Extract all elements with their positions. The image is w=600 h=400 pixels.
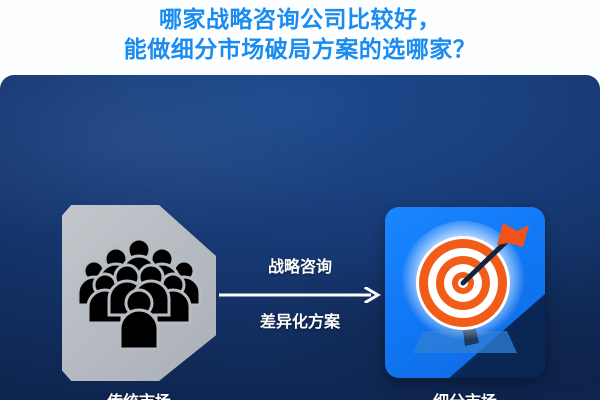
page-title-line-2: 能做细分市场破局方案的选哪家？ [0,36,600,63]
main-panel: 传统市场 战略咨询 差异化方案 [0,75,600,400]
connector-label-above: 战略咨询 [210,253,390,277]
infographic-canvas: 哪家战略咨询公司比较好， 能做细分市场破局方案的选哪家？ [0,0,600,400]
header-band: 哪家战略咨询公司比较好， 能做细分市场破局方案的选哪家？ [0,0,600,78]
page-title-line-1: 哪家战略咨询公司比较好， [0,6,600,33]
right-arrow-icon [219,287,381,303]
left-node-caption: 传统市场 [62,388,216,400]
crowd-people-icon [62,205,216,381]
target-dartboard-arrow-icon [385,207,545,378]
connector-label-below: 差异化方案 [210,308,390,332]
segmented-market-card [385,207,545,378]
right-node-caption: 细分市场 [385,388,545,400]
